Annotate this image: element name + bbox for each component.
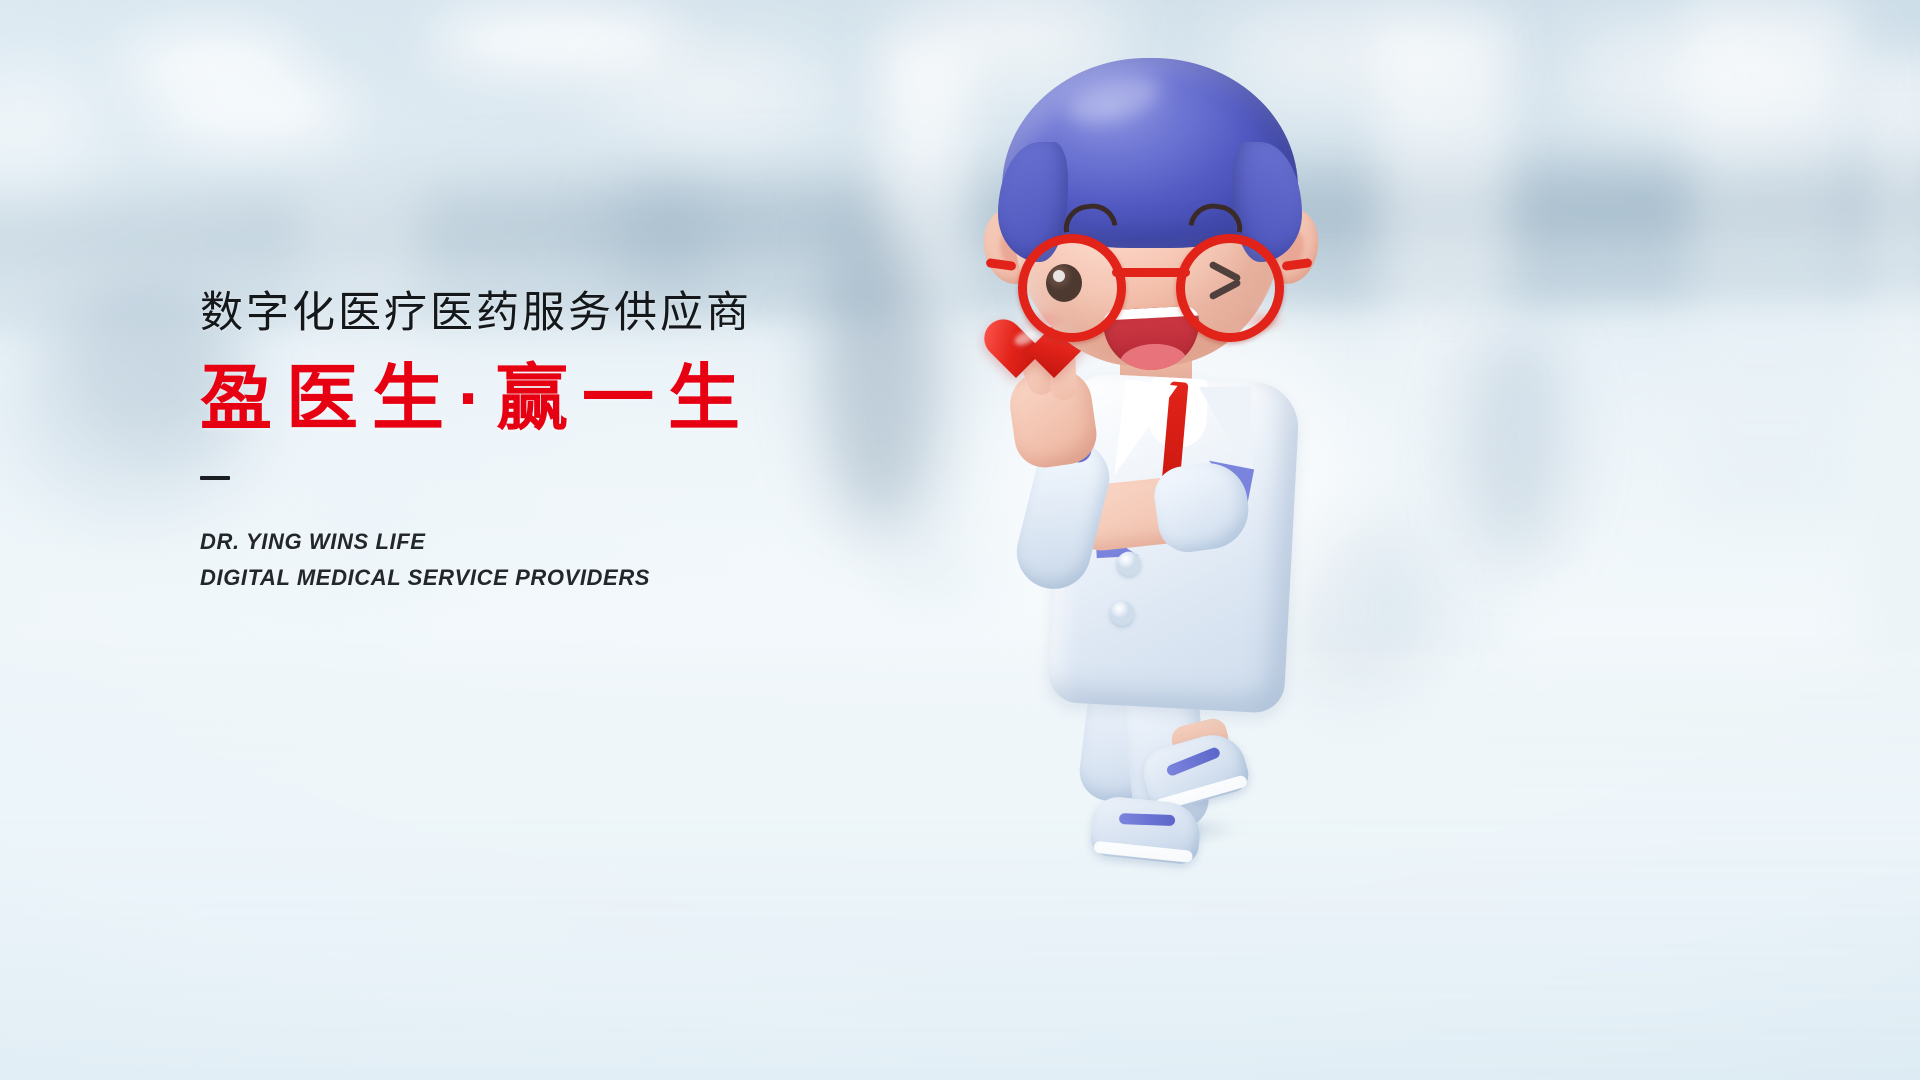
subtitle-line-1: DR. YING WINS LIFE [200,524,960,560]
page-title: 数字化医疗医药服务供应商 [200,288,960,340]
tongue [1118,342,1188,372]
glasses-bridge [1112,268,1190,277]
coat-button [1110,601,1135,626]
headline-copy-block: 数字化医疗医药服务供应商 盈医生·赢一生 DR. YING WINS LIFE … [200,288,960,596]
slogan-text: 盈医生·赢一生 [200,358,960,441]
shoe-stripe [1119,813,1175,826]
round-glasses-icon [1008,234,1290,326]
subtitle-block: DR. YING WINS LIFE DIGITAL MEDICAL SERVI… [200,524,960,595]
cartoon-doctor-character [960,40,1380,870]
banner-stage: 数字化医疗医药服务供应商 盈医生·赢一生 DR. YING WINS LIFE … [0,0,1920,1080]
subtitle-line-2: DIGITAL MEDICAL SERVICE PROVIDERS [200,560,960,596]
glasses-lens-right [1176,234,1284,342]
glasses-temple-left [986,258,1017,271]
divider-dash [200,476,230,480]
character-head [1000,58,1300,368]
shoe-stripe [1165,746,1221,777]
coat-button [1116,551,1141,576]
glasses-lens-left [1018,234,1126,342]
shoe-sole [1093,841,1193,863]
hair-highlight [1062,68,1165,133]
